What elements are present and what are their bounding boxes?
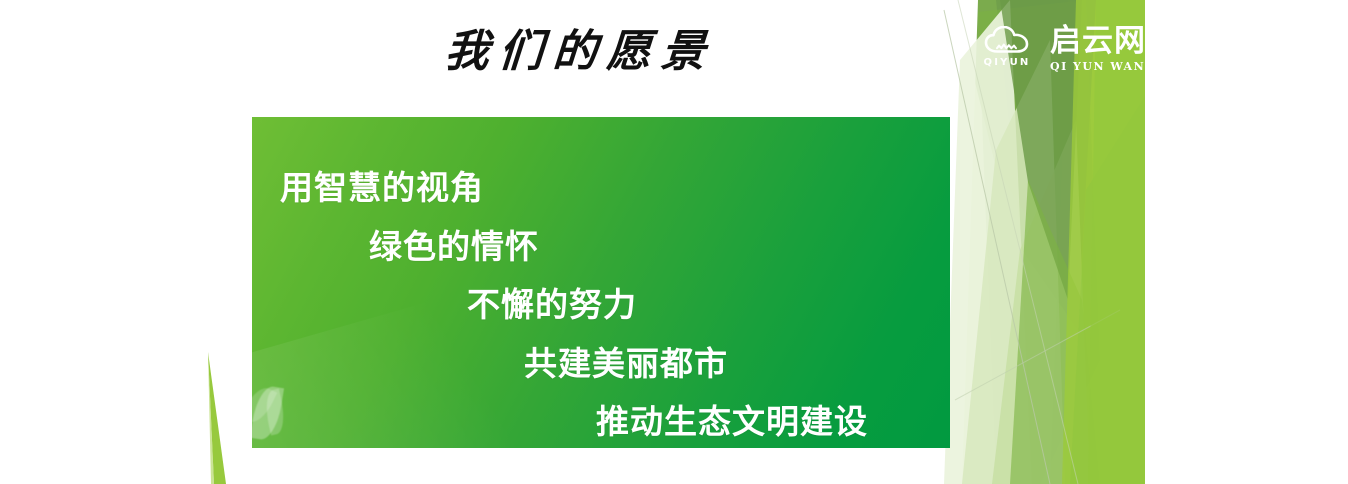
logo-name-pinyin: QI YUN WANG ZHI [1050, 60, 1189, 73]
slide-canvas: 我们的愿景 [0, 0, 1348, 484]
vision-line: 推动生态文明建设 [596, 395, 868, 443]
vision-line: 用智慧的视角 [280, 161, 484, 209]
logo-wordmark: 启云网智 QI YUN WANG ZHI [1050, 24, 1189, 73]
logo-mark-label: QIYUN [984, 57, 1031, 68]
vision-line: 不懈的努力 [467, 278, 637, 326]
cloud-icon [984, 26, 1030, 54]
vision-line: 绿色的情怀 [369, 220, 539, 268]
vision-panel: 用智慧的视角 绿色的情怀 不懈的努力 共建美丽都市 推动生态文明建设 [252, 117, 950, 448]
logo-mark: QIYUN [978, 24, 1036, 68]
vision-line: 共建美丽都市 [524, 337, 728, 385]
vision-statement-list: 用智慧的视角 绿色的情怀 不懈的努力 共建美丽都市 推动生态文明建设 [252, 117, 950, 448]
brand-logo: QIYUN 启云网智 QI YUN WANG ZHI [978, 24, 1189, 73]
logo-name-cn: 启云网智 [1050, 24, 1178, 58]
